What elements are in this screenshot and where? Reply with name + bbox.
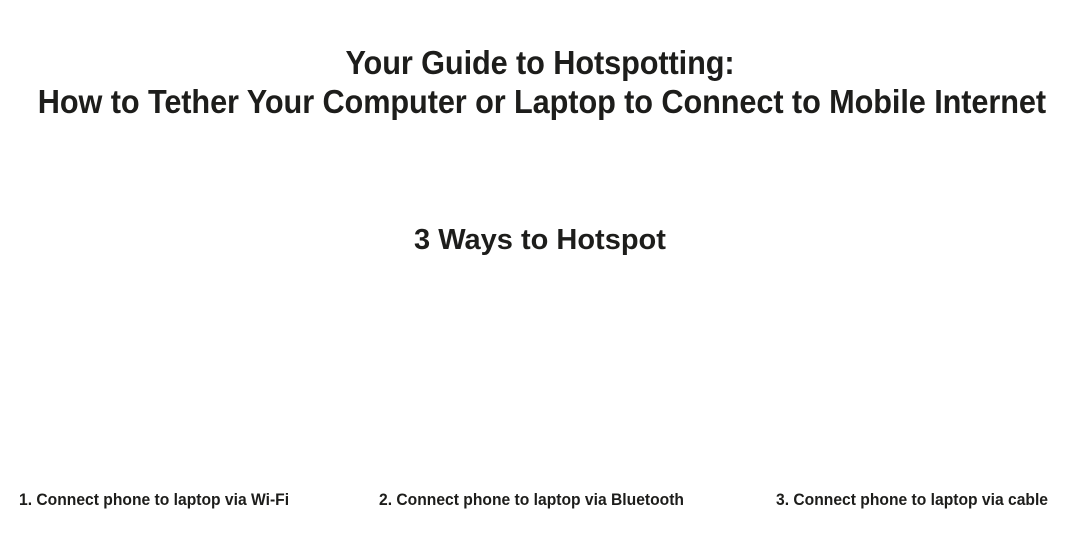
section-heading-text: 3 Ways to Hotspot: [414, 224, 666, 256]
illustration-slot-wifi: [0, 278, 330, 473]
infographic-page: Your Guide to Hotspotting: How to Tether…: [0, 0, 1080, 552]
illustration-band: [0, 278, 1080, 473]
method-caption-wifi: 1. Connect phone to laptop via Wi-Fi: [19, 489, 289, 511]
method-caption-cable: 3. Connect phone to laptop via cable: [776, 489, 1048, 511]
caption-row: 1. Connect phone to laptop via Wi-Fi 2. …: [0, 489, 1080, 515]
illustration-slot-cable: [750, 278, 1080, 473]
method-caption-bluetooth: 2. Connect phone to laptop via Bluetooth: [379, 489, 684, 511]
section-heading: 3 Ways to Hotspot: [0, 223, 1080, 257]
title-line-2: How to Tether Your Computer or Laptop to…: [38, 82, 1042, 122]
illustration-slot-bluetooth: [375, 278, 705, 473]
title-line-1: Your Guide to Hotspotting:: [38, 44, 1042, 82]
page-title: Your Guide to Hotspotting: How to Tether…: [0, 44, 1080, 122]
